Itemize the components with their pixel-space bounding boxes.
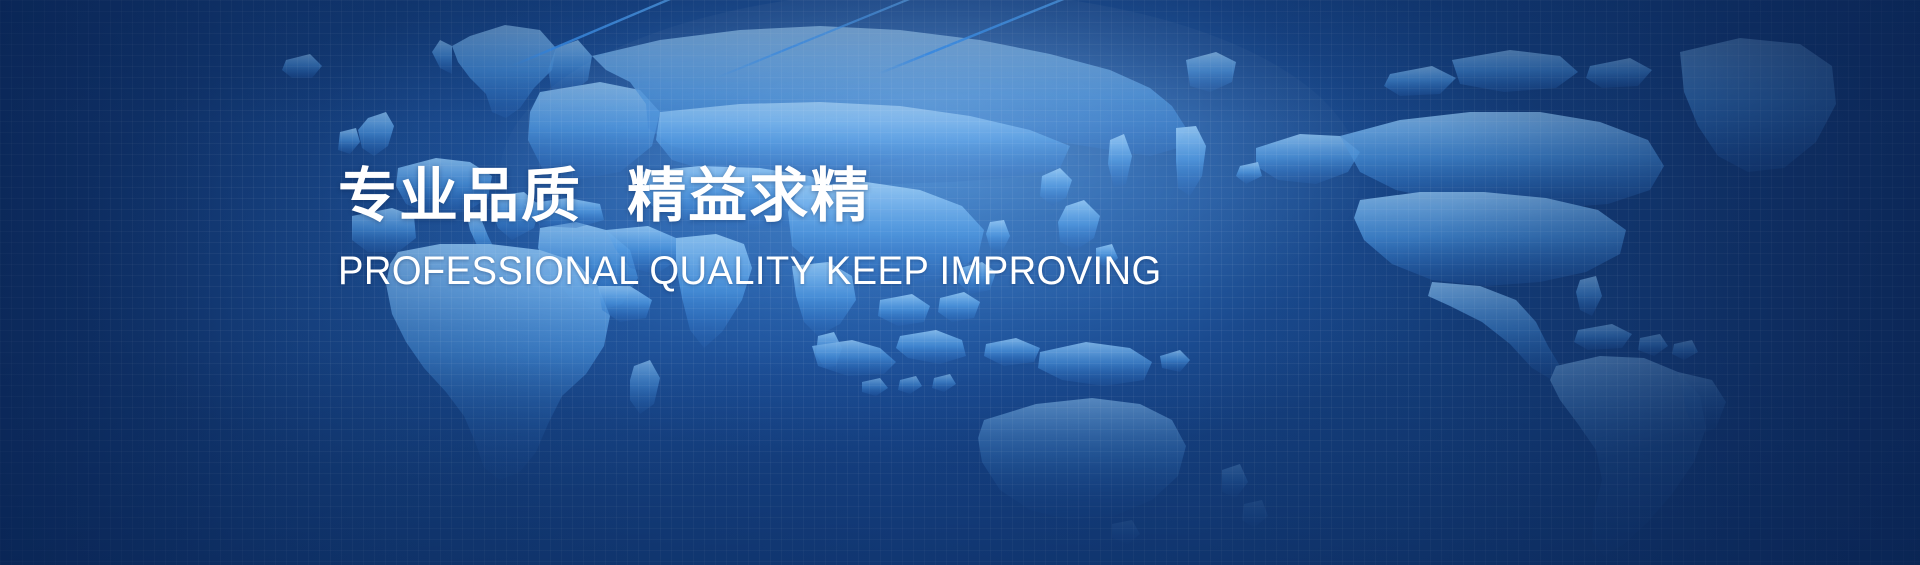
headline-chinese: 专业品质 精益求精 bbox=[338, 166, 1200, 225]
promo-banner: 专业品质 精益求精 PROFESSIONAL QUALITY KEEP IMPR… bbox=[0, 0, 1920, 565]
banner-copy: 专业品质 精益求精 PROFESSIONAL QUALITY KEEP IMPR… bbox=[338, 166, 1200, 291]
headline-english: PROFESSIONAL QUALITY KEEP IMPROVING bbox=[338, 251, 1162, 291]
